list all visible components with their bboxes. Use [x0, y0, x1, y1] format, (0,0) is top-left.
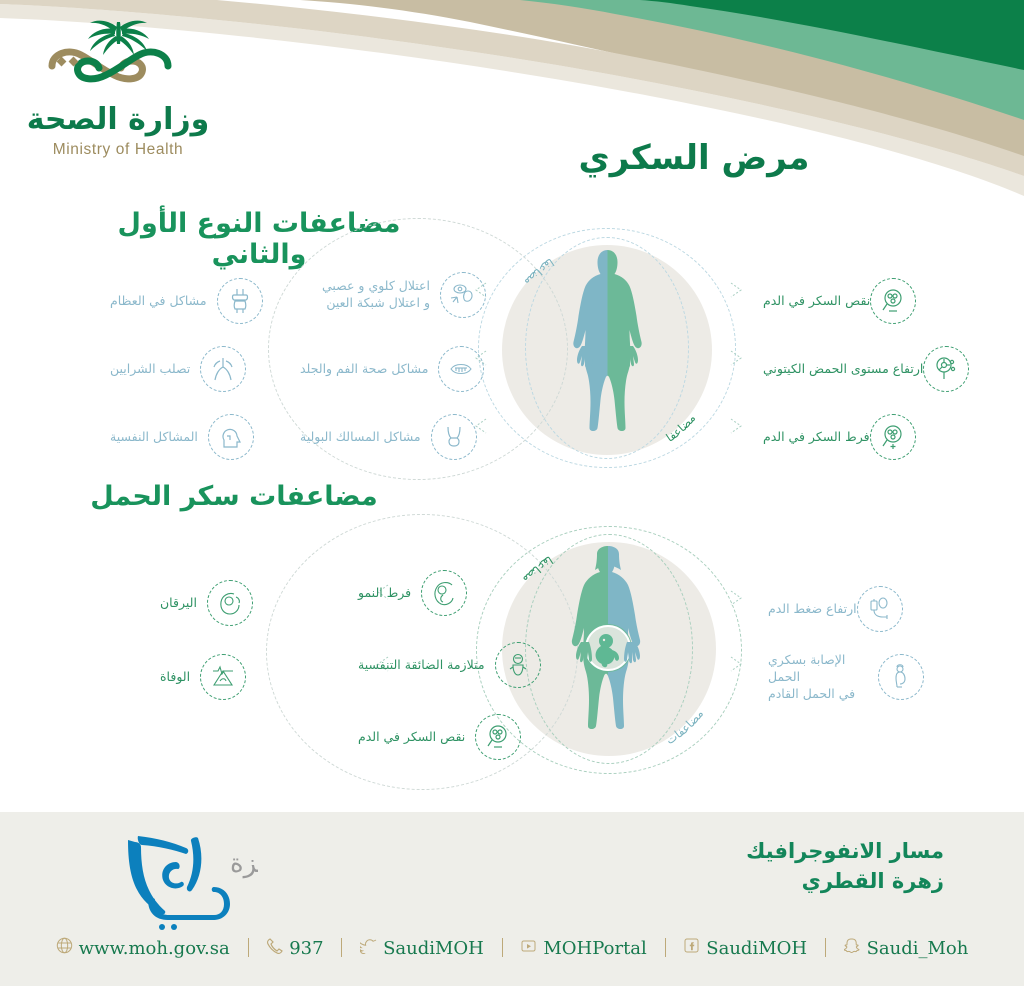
- youtube-icon: [520, 937, 537, 959]
- node-hyperglycemia-1: فرط السكر في الدم: [753, 414, 916, 460]
- newborn-jaundice-icon: [207, 580, 253, 626]
- magnifier-low-glucose-icon: [475, 714, 521, 760]
- wa3i-mark-icon: جائزة: [118, 832, 258, 942]
- diagram-type1-type2: مضاعفات مزمنة مضاعفات حادة مشاكل في العظ…: [0, 240, 1024, 480]
- node-label: فرط السكر في الدم: [763, 429, 870, 446]
- node-hypoglycemia-1: نقص السكر في الدم: [753, 278, 916, 324]
- chevron-right-1a: [729, 282, 743, 298]
- infographic-path-credit: مسار الانفوجرافيك زهرة القطري: [524, 836, 944, 897]
- node-urinary-problems: مشاكل المسالك البولية: [300, 414, 477, 460]
- fetus-macrosomia-icon: [421, 570, 467, 616]
- divider: [341, 938, 342, 957]
- head-mind-icon: [208, 414, 254, 460]
- node-label: مشاكل المسالك البولية: [300, 429, 421, 446]
- chevron-right-2b: [729, 656, 743, 672]
- contact-youtube[interactable]: MOHPortal: [520, 937, 646, 959]
- baby-breathing-icon: [495, 642, 541, 688]
- node-label-text: اعتلال كلوي و عصبيو اعتلال شبكة العين: [322, 278, 430, 310]
- divider: [502, 938, 503, 957]
- contact-text: 937: [289, 938, 323, 959]
- artery-icon: [200, 346, 246, 392]
- node-label: اعتلال كلوي و عصبيو اعتلال شبكة العين: [300, 278, 430, 312]
- ultrasound-flatline-icon: [200, 654, 246, 700]
- node-label: المشاكل النفسية: [110, 429, 198, 446]
- node-jaundice: اليرقان: [160, 580, 253, 626]
- node-hypoglycemia-2: نقص السكر في الدم: [358, 714, 521, 760]
- contact-phone[interactable]: 937: [266, 937, 323, 959]
- path-line-2: زهرة القطري: [524, 866, 944, 896]
- pregnant-woman-icon: [878, 654, 924, 700]
- contact-text: Saudi_Moh: [867, 938, 969, 959]
- node-death: الوفاة: [160, 654, 246, 700]
- node-label: متلازمة الضائقة التنفسية: [358, 657, 485, 674]
- arc-caption-maternal-2: مضاعفات الأم: [650, 534, 770, 764]
- contact-text: www.moh.gov.sa: [79, 938, 230, 959]
- moh-palm-swords-logo: [18, 14, 218, 104]
- node-label: فرط النمو: [358, 585, 411, 602]
- contact-facebook[interactable]: SaudiMOH: [683, 937, 807, 959]
- magnifier-high-glucose-icon: [870, 414, 916, 460]
- contact-snapchat[interactable]: Saudi_Moh: [844, 937, 969, 959]
- divider: [248, 938, 249, 957]
- node-respiratory-distress: متلازمة الضائقة التنفسية: [358, 642, 541, 688]
- node-bone-problems: مشاكل في العظام: [110, 278, 263, 324]
- mouth-skin-icon: [438, 346, 484, 392]
- node-psychological-problems: المشاكل النفسية: [110, 414, 254, 460]
- magnifier-ketone-icon: [923, 346, 969, 392]
- contact-text: SaudiMOH: [383, 938, 484, 959]
- phone-icon: [266, 937, 283, 959]
- wa3i-award-logo: جائزة: [28, 832, 258, 942]
- bladder-icon: [431, 414, 477, 460]
- svg-text:مضاعفات الأم: مضاعفات الأم: [650, 534, 706, 747]
- facebook-icon: [683, 937, 700, 959]
- divider: [665, 938, 666, 957]
- moh-logo-arabic: وزارة الصحة: [18, 102, 218, 137]
- contact-twitter[interactable]: SaudiMOH: [360, 937, 484, 959]
- contact-text: MOHPortal: [543, 938, 646, 959]
- infographic-page: وزارة الصحة Ministry of Health مرض السكر…: [0, 0, 1024, 986]
- node-label: نقص السكر في الدم: [358, 729, 465, 746]
- pregnant-body-silhouette: [568, 546, 648, 754]
- node-label-text: الإصابة بسكري الحملفي الحمل القادم: [768, 652, 855, 701]
- node-oral-skin-problems: مشاكل صحة الفم والجلد: [300, 346, 484, 392]
- node-label: نقص السكر في الدم: [763, 293, 870, 310]
- footer: جائزة مسار الانفوجرافيك زهرة القطري www.…: [0, 812, 1024, 986]
- divider: [825, 938, 826, 957]
- chevron-right-2a: [729, 590, 743, 606]
- node-label: اليرقان: [160, 595, 197, 612]
- contact-website[interactable]: www.moh.gov.sa: [56, 937, 230, 959]
- svg-text:مضاعفات الجنين: مضاعفات الجنين: [452, 534, 555, 586]
- node-ketoacidosis: ارتفاع مستوى الحمض الكيتوني: [753, 346, 969, 392]
- path-line-1: مسار الانفوجرافيك: [524, 836, 944, 866]
- twitter-icon: [360, 937, 377, 959]
- award-label-jaeza: جائزة: [230, 849, 258, 879]
- node-label: مشاكل في العظام: [110, 293, 207, 310]
- chevron-right-1b: [729, 350, 743, 366]
- diagram-gestational: مضاعفات الجنين مضاعفات الأم اليرقان: [0, 528, 1024, 793]
- arc-caption-acute-1: مضاعفات حادة: [645, 235, 765, 465]
- globe-icon: [56, 937, 73, 959]
- section-title-gestational: مضاعفات سكر الحمل: [69, 481, 399, 512]
- node-label: الوفاة: [160, 669, 190, 686]
- node-macrosomia: فرط النمو: [358, 570, 467, 616]
- svg-text:مضاعفات حادة: مضاعفات حادة: [645, 235, 698, 445]
- blood-pressure-icon: [857, 586, 903, 632]
- magnifier-low-glucose-icon: [870, 278, 916, 324]
- footer-contact-row: www.moh.gov.sa 937 SaudiMOH: [0, 937, 1024, 959]
- node-label: الإصابة بسكري الحملفي الحمل القادم: [768, 652, 878, 703]
- contact-text: SaudiMOH: [706, 938, 807, 959]
- moh-logo: وزارة الصحة Ministry of Health: [18, 14, 218, 164]
- kidney-eye-nerve-icon: [440, 272, 486, 318]
- node-label: ارتفاع ضغط الدم: [768, 601, 857, 618]
- node-label: تصلب الشرايين: [110, 361, 190, 378]
- node-arteriosclerosis: تصلب الشرايين: [110, 346, 246, 392]
- node-label: مشاكل صحة الفم والجلد: [300, 361, 428, 378]
- moh-logo-english: Ministry of Health: [18, 141, 218, 159]
- page-title: مرض السكري: [484, 138, 904, 178]
- node-label: ارتفاع مستوى الحمض الكيتوني: [763, 361, 923, 378]
- standing-body-silhouette: [570, 248, 645, 453]
- node-nephropathy-retinopathy: اعتلال كلوي و عصبيو اعتلال شبكة العين: [300, 272, 486, 318]
- bone-joint-icon: [217, 278, 263, 324]
- snapchat-icon: [844, 937, 861, 959]
- chevron-right-1c: [729, 418, 743, 434]
- node-hypertension: ارتفاع ضغط الدم: [758, 586, 903, 632]
- node-future-gestational-diabetes: الإصابة بسكري الحملفي الحمل القادم: [758, 652, 924, 703]
